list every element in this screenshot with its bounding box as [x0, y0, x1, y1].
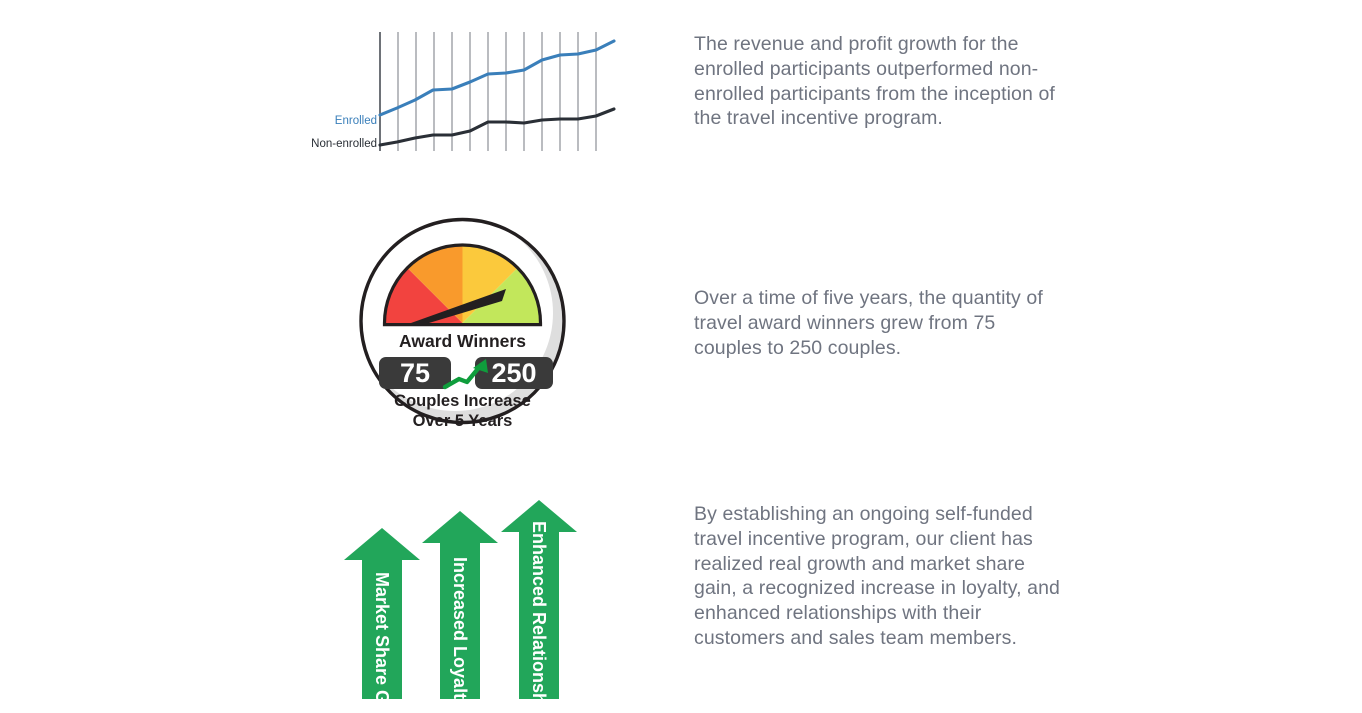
legend-label-non-enrolled: Non-enrolled — [293, 138, 377, 150]
series-line-enrolled — [380, 41, 614, 115]
arrow-enhanced-relationships: Enhanced Relationships — [501, 500, 577, 707]
paragraph-revenue-growth: The revenue and profit growth for the en… — [694, 32, 1060, 131]
legend-label-enrolled: Enrolled — [305, 115, 377, 127]
gauge-value-to: 250 — [491, 358, 536, 388]
arrow-label: Increased Loyalty — [450, 557, 470, 707]
arrow-increased-loyalty: Increased Loyalty — [422, 511, 498, 707]
series-line-non-enrolled — [380, 109, 614, 145]
gauge-title: Award Winners — [399, 331, 526, 351]
paragraph-text: By establishing an ongoing self-funded t… — [694, 502, 1060, 651]
gauge-value-from: 75 — [400, 358, 430, 388]
paragraph-award-winners: Over a time of five years, the quantity … — [694, 286, 1060, 360]
gauge-svg: Award Winners 75 250 Couples Increase Ov… — [355, 213, 570, 430]
arrow-label: Market Share Gain — [372, 572, 392, 707]
award-winners-gauge-badge: Award Winners 75 250 Couples Increase Ov… — [355, 213, 570, 430]
revenue-growth-line-chart: Enrolled Non-enrolled — [305, 14, 625, 160]
arrows-svg: Market Share Gain Increased Loyalty Enha… — [340, 497, 590, 707]
paragraph-program-outcomes: By establishing an ongoing self-funded t… — [694, 502, 1060, 651]
arrow-market-share-gain: Market Share Gain — [344, 528, 420, 707]
paragraph-text: Over a time of five years, the quantity … — [694, 286, 1060, 360]
infographic-page: Enrolled Non-enrolled The revenue and pr… — [0, 0, 1362, 713]
gauge-caption-line-2: Over 5 Years — [413, 412, 513, 430]
paragraph-text: The revenue and profit growth for the en… — [694, 32, 1060, 131]
growth-arrows-graphic: Market Share Gain Increased Loyalty Enha… — [340, 497, 590, 707]
chart-gridlines — [380, 32, 596, 151]
gauge-caption-line-1: Couples Increase — [394, 392, 531, 410]
arrow-label: Enhanced Relationships — [529, 521, 549, 707]
